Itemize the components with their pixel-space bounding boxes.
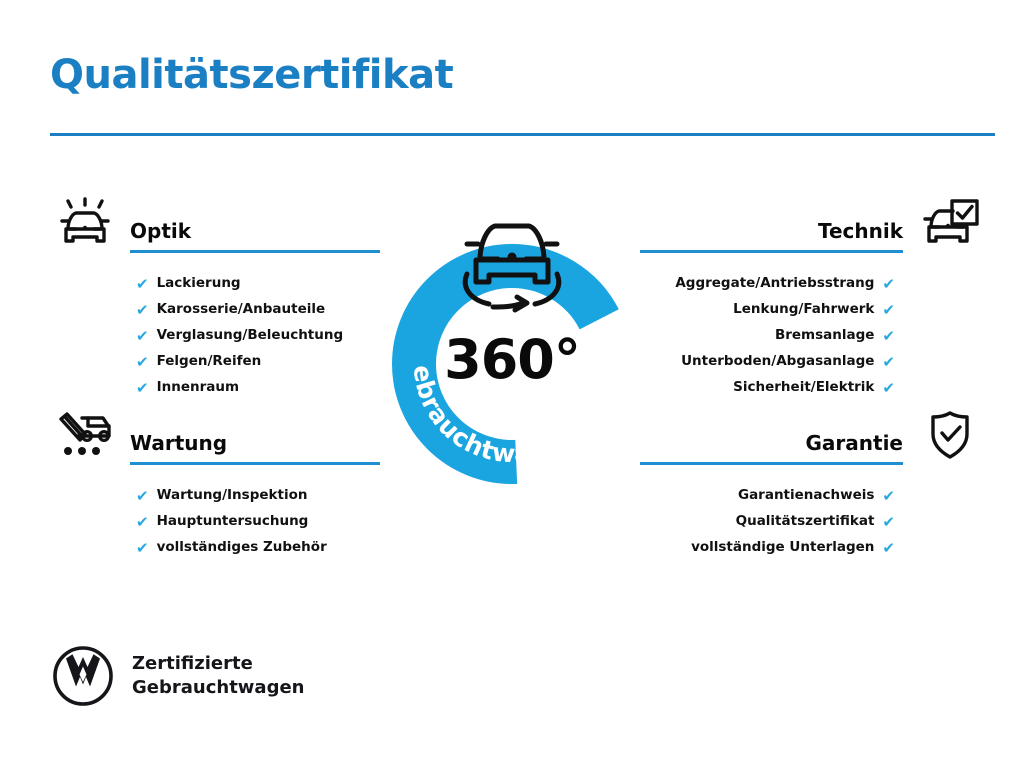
check-icon: ✔	[882, 277, 895, 292]
check-icon: ✔	[136, 303, 149, 318]
check-icon: ✔	[136, 277, 149, 292]
list-item: Aggregate/Antriebsstrang✔	[635, 271, 995, 297]
list-item: ✔Innenraum	[40, 375, 385, 401]
list-item-label: Felgen/Reifen	[157, 355, 262, 369]
list-item: ✔vollständiges Zubehör	[40, 535, 385, 561]
section-technik: Technik Aggregate/Antriebsstrang✔ Lenkun…	[635, 203, 995, 401]
check-icon: ✔	[882, 515, 895, 530]
wrench-car-oil-icon	[54, 409, 116, 461]
section-optik-divider	[130, 250, 380, 253]
list-item: ✔Felgen/Reifen	[40, 349, 385, 375]
badge-center-text: 360°	[381, 328, 643, 391]
list-item: Sicherheit/Elektrik✔	[635, 375, 995, 401]
section-garantie-title: Garantie	[806, 431, 904, 455]
section-garantie: Garantie Garantienachweis✔ Qualitätszert…	[635, 415, 995, 561]
badge-360-gebrauchtwagen-check: Gebrauchtwagen-Check 360°	[381, 196, 643, 496]
vw-logo-icon	[52, 645, 114, 707]
check-icon: ✔	[136, 329, 149, 344]
section-technik-divider	[640, 250, 903, 253]
check-icon: ✔	[882, 489, 895, 504]
list-item-label: Bremsanlage	[775, 329, 874, 343]
section-technik-title: Technik	[818, 219, 903, 243]
list-item-label: Wartung/Inspektion	[157, 489, 308, 503]
section-optik-list: ✔Lackierung ✔Karosserie/Anbauteile ✔Verg…	[40, 271, 385, 401]
section-wartung-list: ✔Wartung/Inspektion ✔Hauptuntersuchung ✔…	[40, 483, 385, 561]
section-garantie-header: Garantie	[635, 415, 995, 477]
footer-line-1: Zertifizierte	[132, 652, 304, 676]
list-item-label: vollständige Unterlagen	[691, 541, 874, 555]
check-icon: ✔	[882, 355, 895, 370]
list-item: Garantienachweis✔	[635, 483, 995, 509]
check-icon: ✔	[882, 303, 895, 318]
footer-brand: Zertifizierte Gebrauchtwagen	[52, 645, 304, 707]
page-title: Qualitätszertifikat	[50, 52, 453, 98]
section-wartung-title: Wartung	[130, 431, 227, 455]
section-garantie-list: Garantienachweis✔ Qualitätszertifikat✔ v…	[635, 483, 995, 561]
section-wartung-header: Wartung	[40, 415, 385, 477]
list-item: ✔Verglasung/Beleuchtung	[40, 323, 385, 349]
list-item-label: Qualitätszertifikat	[736, 515, 875, 529]
check-icon: ✔	[136, 541, 149, 556]
section-garantie-divider	[640, 462, 903, 465]
check-icon: ✔	[136, 489, 149, 504]
check-icon: ✔	[882, 541, 895, 556]
list-item: ✔Wartung/Inspektion	[40, 483, 385, 509]
check-icon: ✔	[136, 515, 149, 530]
shield-check-icon	[919, 409, 981, 461]
list-item-label: Lenkung/Fahrwerk	[733, 303, 874, 317]
list-item: ✔Karosserie/Anbauteile	[40, 297, 385, 323]
list-item-label: Aggregate/Antriebsstrang	[675, 277, 874, 291]
footer-text: Zertifizierte Gebrauchtwagen	[132, 652, 304, 701]
check-icon: ✔	[882, 381, 895, 396]
section-wartung-divider	[130, 462, 380, 465]
check-icon: ✔	[882, 329, 895, 344]
list-item-label: Lackierung	[157, 277, 241, 291]
section-optik-title: Optik	[130, 219, 191, 243]
header-divider	[50, 133, 995, 136]
certificate-page: Qualitätszertifikat	[0, 0, 1024, 768]
list-item-label: Verglasung/Beleuchtung	[157, 329, 344, 343]
list-item-label: Hauptuntersuchung	[157, 515, 309, 529]
car-front-checkbox-icon	[919, 197, 981, 249]
list-item-label: Unterboden/Abgasanlage	[681, 355, 874, 369]
list-item: Unterboden/Abgasanlage✔	[635, 349, 995, 375]
list-item-label: Garantienachweis	[738, 489, 874, 503]
list-item: Lenkung/Fahrwerk✔	[635, 297, 995, 323]
list-item: ✔Lackierung	[40, 271, 385, 297]
section-wartung: Wartung ✔Wartung/Inspektion ✔Hauptunters…	[40, 415, 385, 561]
section-technik-header: Technik	[635, 203, 995, 265]
check-icon: ✔	[136, 355, 149, 370]
list-item-label: Karosserie/Anbauteile	[157, 303, 326, 317]
list-item-label: Innenraum	[157, 381, 239, 395]
list-item-label: vollständiges Zubehör	[157, 541, 327, 555]
section-optik: Optik ✔Lackierung ✔Karosserie/Anbauteile…	[40, 203, 385, 401]
list-item: Bremsanlage✔	[635, 323, 995, 349]
list-item: ✔Hauptuntersuchung	[40, 509, 385, 535]
list-item-label: Sicherheit/Elektrik	[733, 381, 874, 395]
section-technik-list: Aggregate/Antriebsstrang✔ Lenkung/Fahrwe…	[635, 271, 995, 401]
footer-line-2: Gebrauchtwagen	[132, 676, 304, 700]
check-icon: ✔	[136, 381, 149, 396]
car-front-shine-icon	[54, 197, 116, 249]
list-item: vollständige Unterlagen✔	[635, 535, 995, 561]
section-optik-header: Optik	[40, 203, 385, 265]
list-item: Qualitätszertifikat✔	[635, 509, 995, 535]
